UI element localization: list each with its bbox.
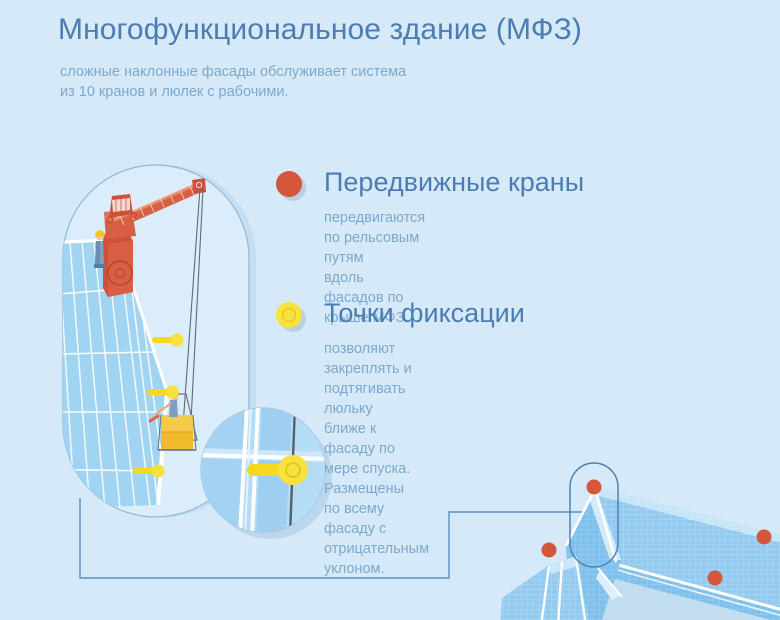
facade-scene bbox=[10, 165, 256, 517]
crane-marker bbox=[542, 543, 557, 558]
rooftop-crane bbox=[103, 178, 206, 297]
legend-description: позволяют закреплять и подтягивать люльк… bbox=[324, 339, 429, 579]
yellow-ring-dot-icon bbox=[276, 302, 302, 328]
fixation-point-middle bbox=[147, 386, 179, 399]
crane-marker bbox=[708, 571, 723, 586]
fixation-point-lower bbox=[133, 465, 165, 478]
infographic-poster: Многофункциональное здание (МФЗ) сложные… bbox=[0, 0, 780, 620]
suspended-cradle bbox=[150, 390, 197, 450]
rooftop-worker bbox=[94, 230, 105, 268]
hoist-cables bbox=[182, 188, 203, 440]
fixation-point-upper bbox=[152, 334, 184, 347]
crane-marker bbox=[757, 530, 772, 545]
sloped-glass-facade bbox=[10, 240, 167, 510]
red-dot-icon bbox=[276, 171, 302, 197]
page-subtitle: сложные наклонные фасады обслуживает сис… bbox=[60, 62, 406, 102]
legend-heading: Передвижные краны bbox=[324, 165, 584, 199]
cradle-worker bbox=[150, 390, 179, 421]
legend-heading: Точки фиксации bbox=[324, 296, 525, 330]
fixation-point-closeup bbox=[200, 405, 332, 539]
mfz-aerial-view bbox=[500, 480, 780, 620]
crane-marker bbox=[587, 480, 602, 495]
crane-position-callout bbox=[570, 463, 618, 567]
page-title: Многофункциональное здание (МФЗ) bbox=[58, 12, 582, 48]
